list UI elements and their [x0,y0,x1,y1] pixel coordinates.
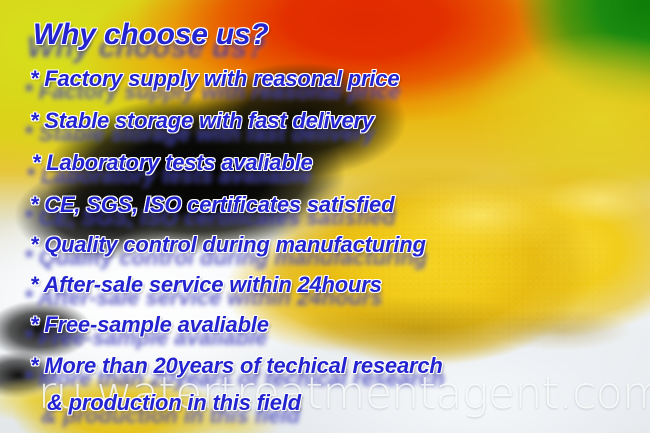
bullet-item-factory-supply: * Factory supply with reasonal price [30,66,399,92]
bullet-item-laboratory-tests: * Laboratory tests avaliable [32,150,313,176]
headline-and-bullets: Why choose us? * Factory supply with rea… [0,0,650,433]
bullet-item-free-sample: * Free-sample avaliable [30,312,269,338]
bullet-item-stable-storage: * Stable storage with fast delivery [30,108,374,134]
bullet-item-research: * More than 20years of techical research [30,353,443,379]
bullet-item-after-sale: * After-sale service within 24hours [30,272,382,298]
bullet-item-research-cont: & production in this field [47,390,301,416]
bullet-item-certificates: * CE, SGS, ISO certificates satisfied [30,192,394,218]
promo-banner: Why choose us? * Factory supply with rea… [0,0,650,433]
bullet-item-quality-control: * Quality control during manufacturing [30,232,426,258]
page-title: Why choose us? [33,18,269,52]
